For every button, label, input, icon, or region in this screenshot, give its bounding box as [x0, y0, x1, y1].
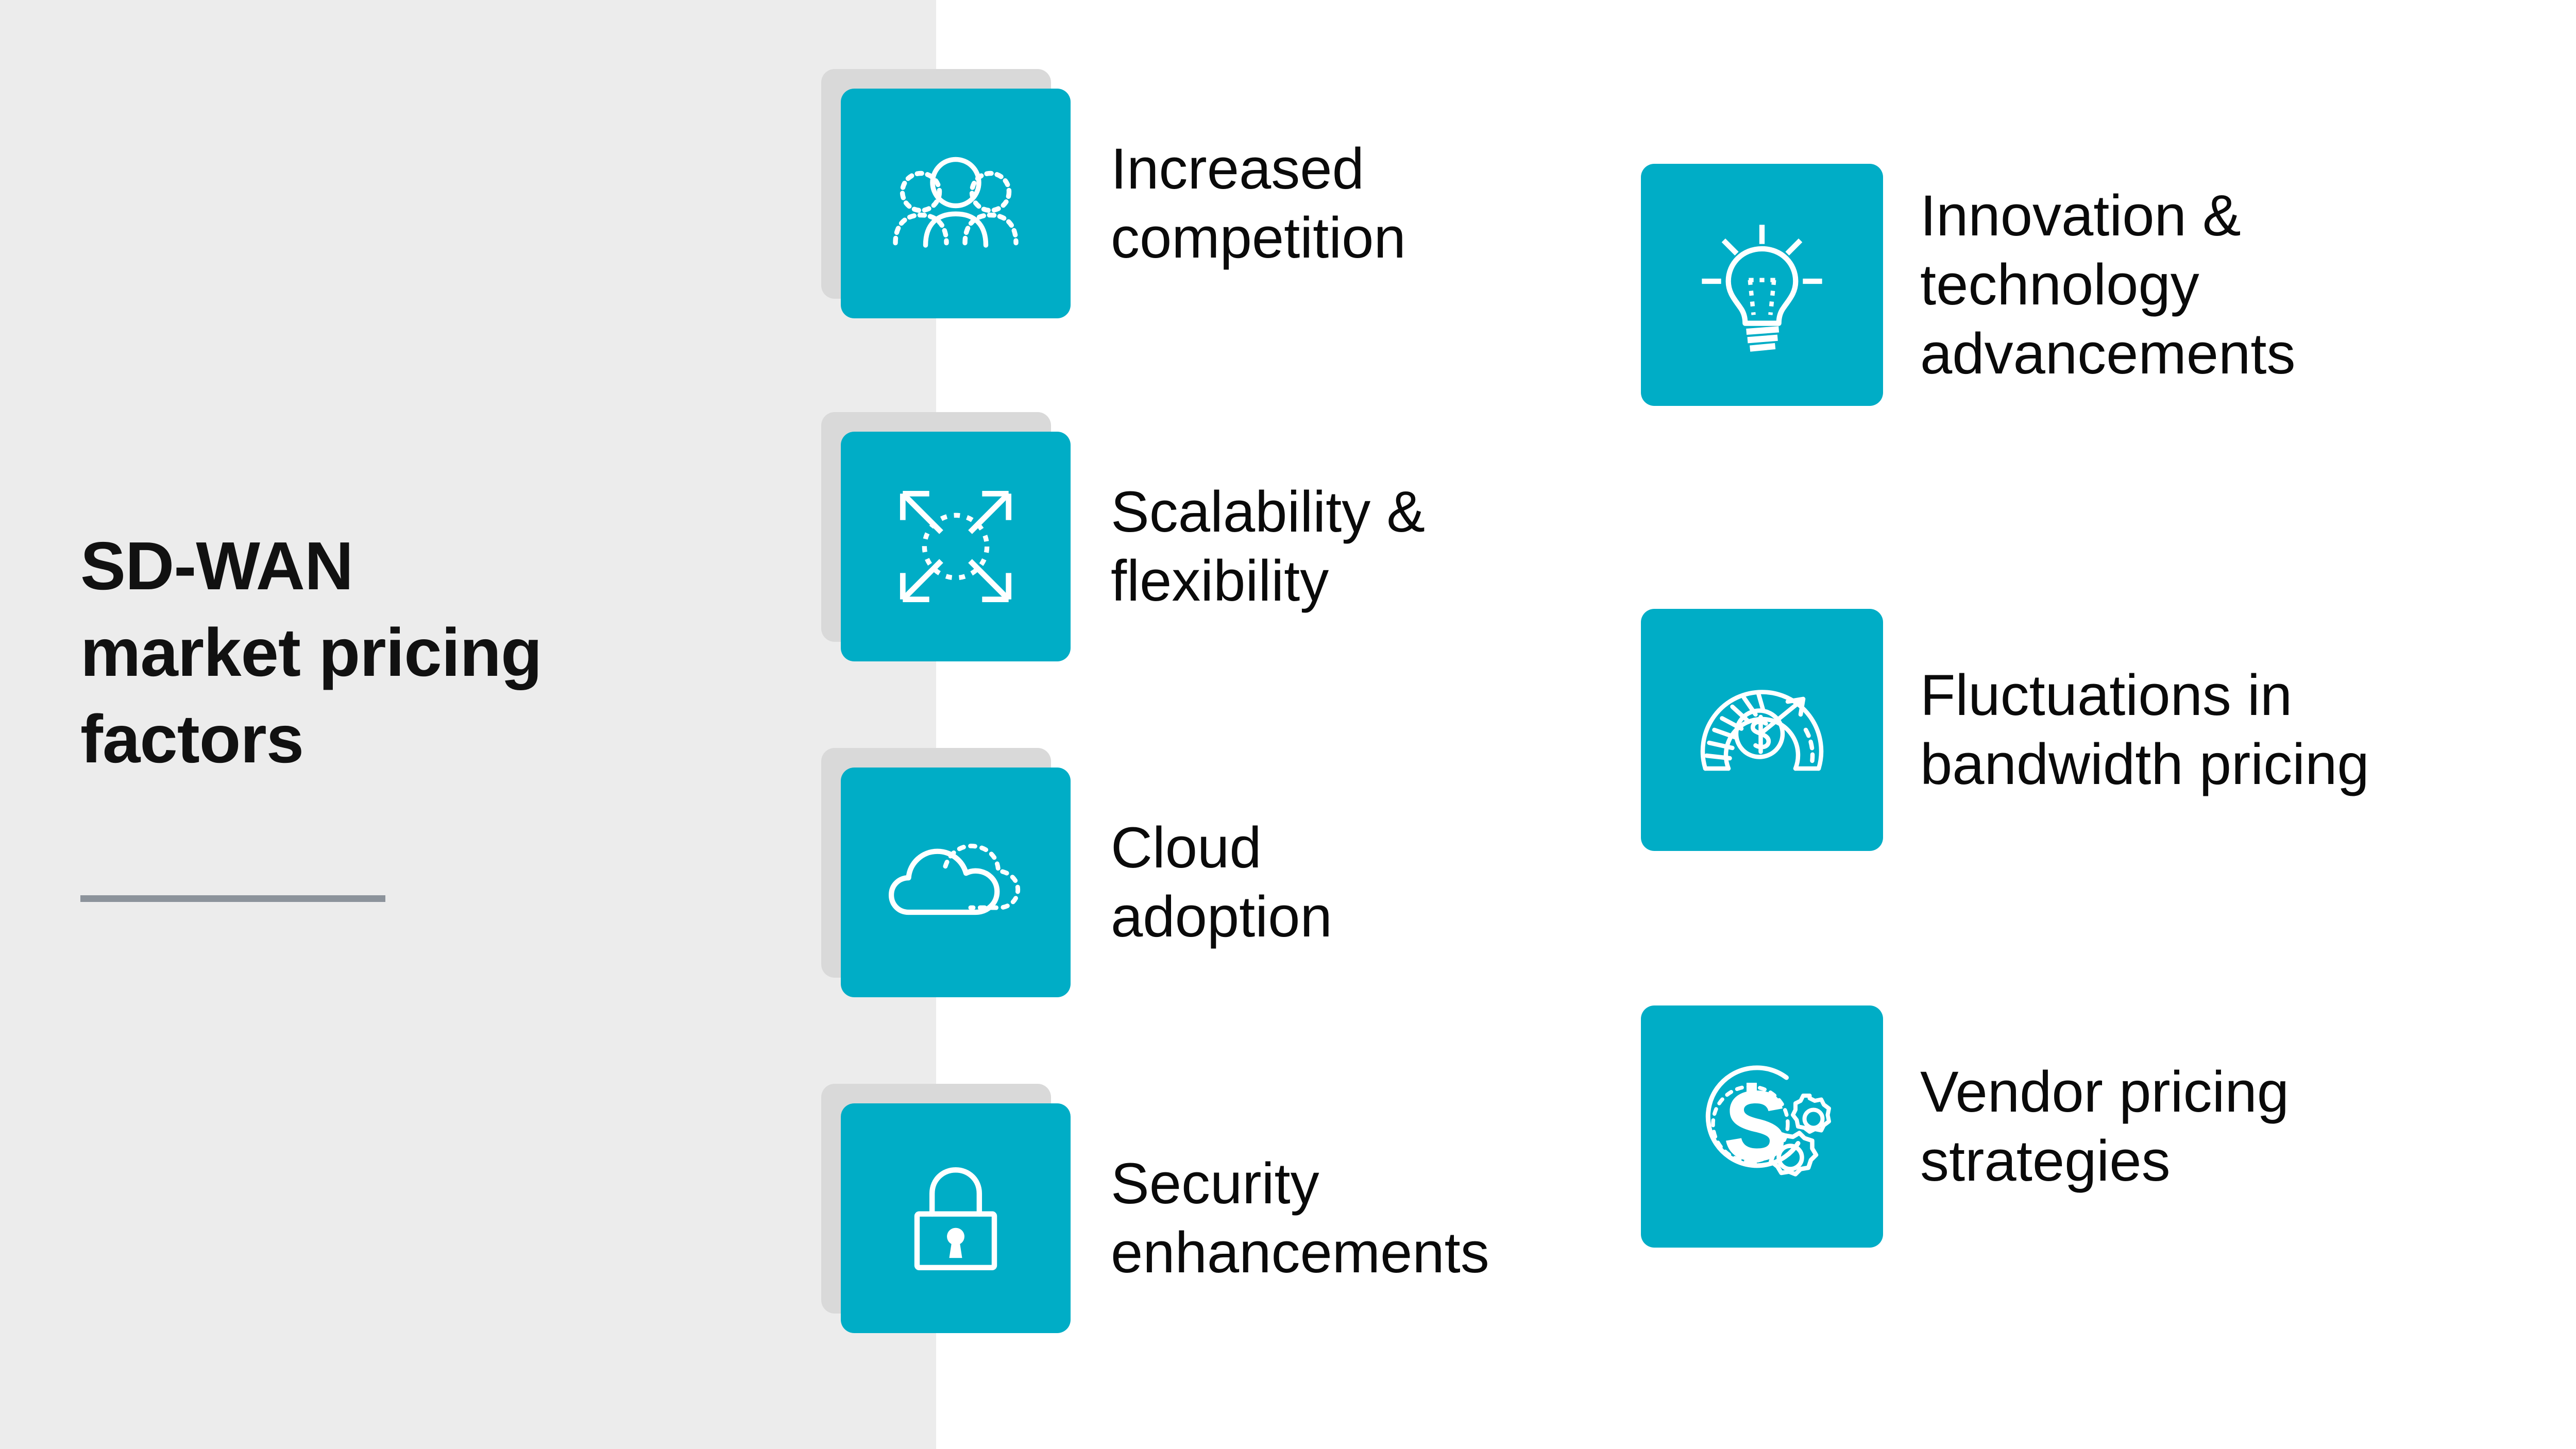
icon-tile: [1641, 164, 1883, 406]
factor-row-bandwidth-pricing: Fluctuations in bandwidth pricing: [1641, 609, 2369, 851]
icon-tile: [841, 1103, 1071, 1333]
icon-tile-wrap: [1641, 164, 1883, 406]
factor-label: Increased competition: [1111, 134, 1406, 272]
factor-label: Vendor pricing strategies: [1920, 1058, 2289, 1196]
factor-row-vendor-pricing: Vendor pricing strategies: [1641, 1005, 2289, 1248]
cloud-icon: [881, 808, 1030, 957]
icon-tile: [1641, 609, 1883, 851]
factor-row-scalability-flexibility: Scalability & flexibility: [841, 432, 1425, 661]
people-group-icon: [886, 134, 1025, 273]
factor-label: Cloud adoption: [1111, 813, 1332, 951]
icon-tile-wrap: [841, 1103, 1071, 1333]
icon-tile-wrap: [841, 768, 1071, 997]
page-title-line-2: market pricing: [80, 609, 724, 696]
factor-row-cloud-adoption: Cloud adoption: [841, 768, 1332, 997]
factor-row-security-enhancements: Security enhancements: [841, 1103, 1489, 1333]
expand-arrows-icon: [884, 474, 1028, 619]
factor-row-increased-competition: Increased competition: [841, 89, 1406, 318]
page-title-line-3: factors: [80, 696, 724, 782]
icon-tile-wrap: [841, 432, 1071, 661]
factor-label: Fluctuations in bandwidth pricing: [1920, 661, 2369, 799]
page-title-line-1: SD-WAN: [80, 523, 724, 609]
padlock-icon: [891, 1154, 1020, 1283]
icon-tile-wrap: [1641, 1005, 1883, 1248]
page-title: SD-WAN market pricing factors: [80, 523, 724, 782]
icon-tile: [841, 432, 1071, 661]
icon-tile: [841, 768, 1071, 997]
factor-label: Innovation & technology advancements: [1920, 181, 2295, 388]
dollar-gears-icon: [1685, 1049, 1839, 1204]
lightbulb-icon: [1690, 213, 1834, 357]
icon-tile-wrap: [841, 89, 1071, 318]
factor-label: Security enhancements: [1111, 1149, 1489, 1287]
gauge-dollar-icon: [1685, 653, 1839, 807]
icon-tile: [841, 89, 1071, 318]
title-divider-rule: [80, 895, 385, 902]
infographic-slide: SD-WAN market pricing factors: [0, 0, 2576, 1449]
icon-tile-wrap: [1641, 609, 1883, 851]
factor-row-innovation-technology: Innovation & technology advancements: [1641, 164, 2295, 406]
factor-label: Scalability & flexibility: [1111, 478, 1425, 616]
icon-tile: [1641, 1005, 1883, 1248]
